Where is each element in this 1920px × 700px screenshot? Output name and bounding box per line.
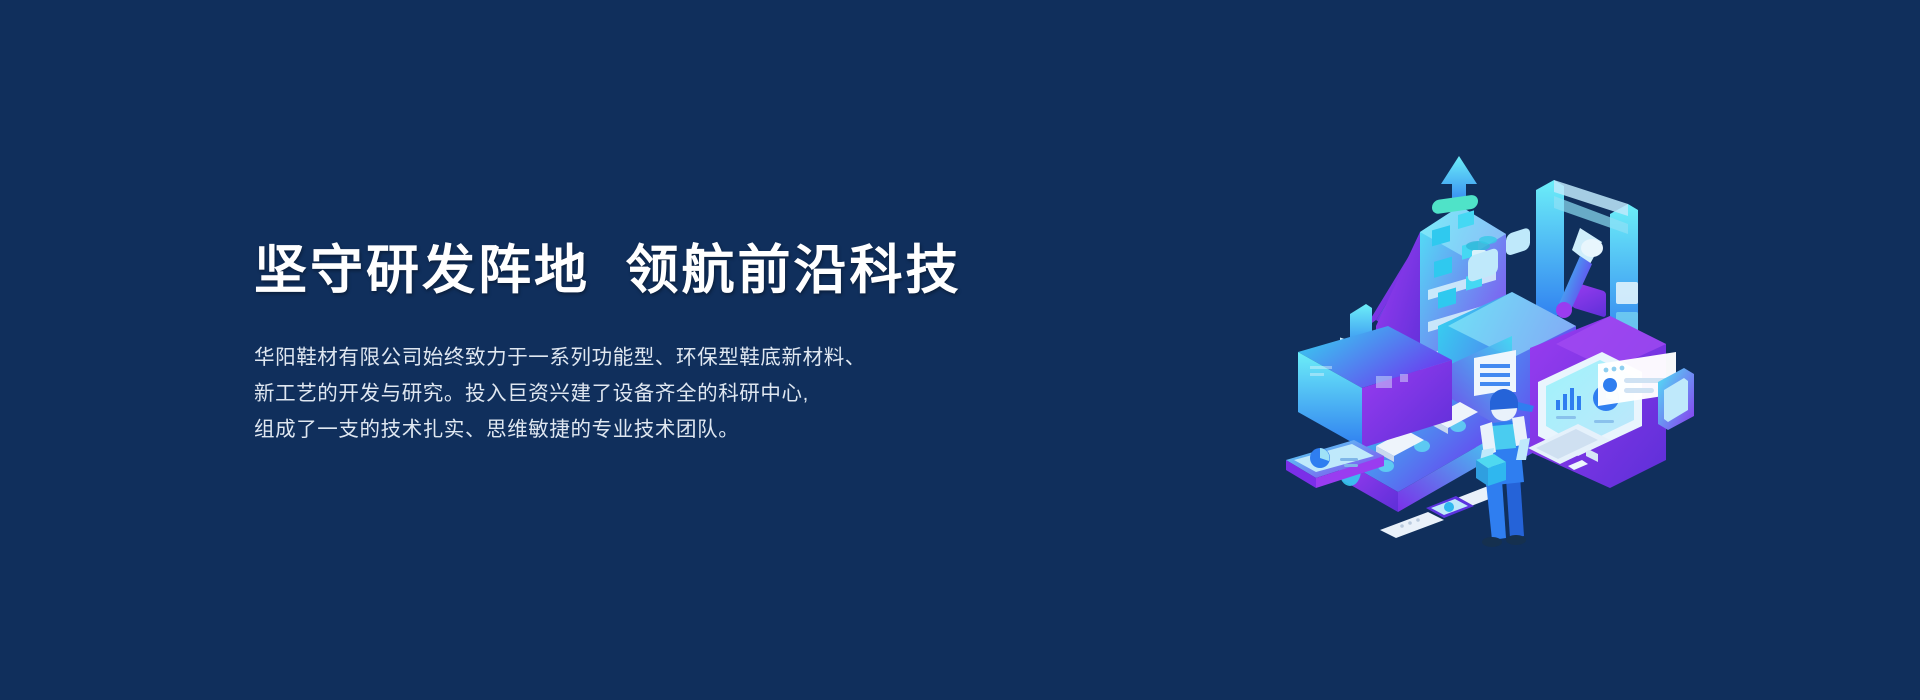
hero-text-block: 坚守研发阵地 领航前沿科技 华阳鞋材有限公司始终致力于一系列功能型、环保型鞋底新… xyxy=(254,240,1014,448)
hero-description-line-2: 新工艺的开发与研究。投入巨资兴建了设备齐全的科研中心, xyxy=(254,376,1014,412)
hero-description-line-1: 华阳鞋材有限公司始终致力于一系列功能型、环保型鞋底新材料、 xyxy=(254,340,1014,376)
hero-banner: 坚守研发阵地 领航前沿科技 华阳鞋材有限公司始终致力于一系列功能型、环保型鞋底新… xyxy=(0,0,1920,700)
hero-description: 华阳鞋材有限公司始终致力于一系列功能型、环保型鞋底新材料、 新工艺的开发与研究。… xyxy=(254,340,1014,448)
isometric-factory-illustration xyxy=(1280,130,1700,550)
hero-description-line-3: 组成了一支的技术扎实、思维敏捷的专业技术团队。 xyxy=(254,412,1014,448)
page-title: 坚守研发阵地 领航前沿科技 xyxy=(254,240,1014,303)
